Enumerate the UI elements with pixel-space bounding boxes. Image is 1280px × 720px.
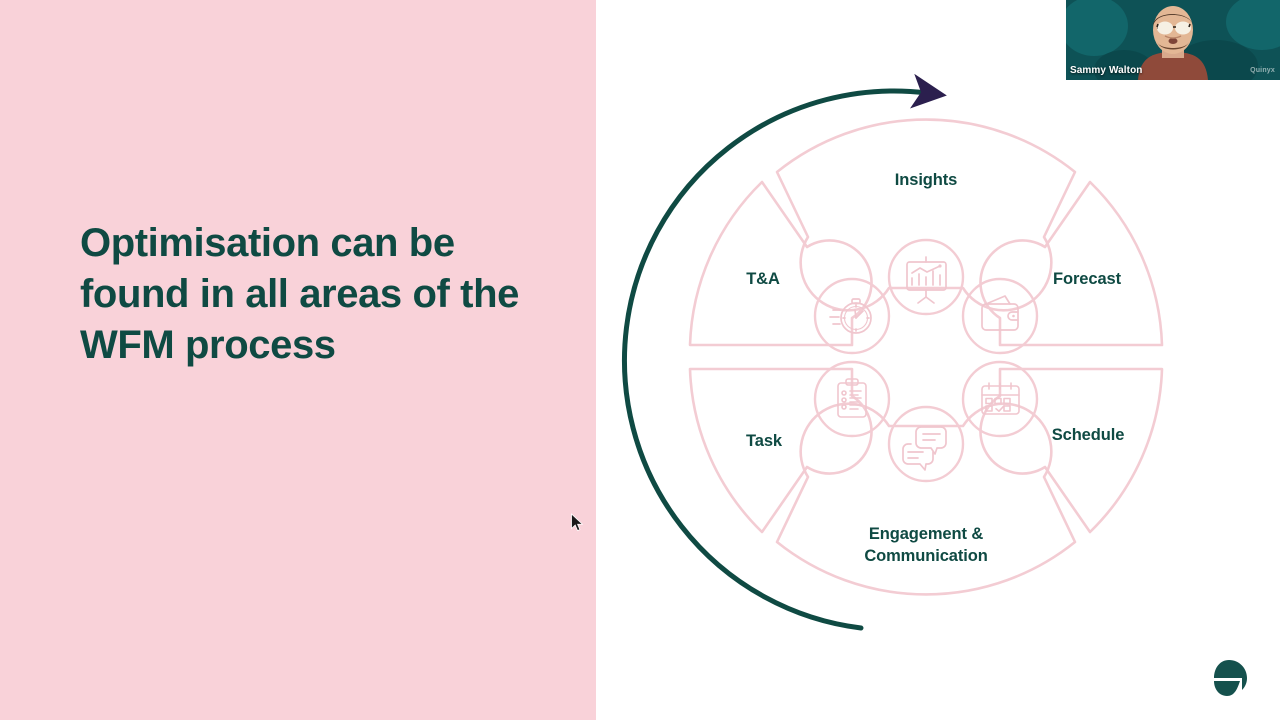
quinyx-logo	[1206, 656, 1252, 702]
wheel-segment-forecast[interactable]	[980, 182, 1162, 345]
wheel-label-ta: T&A	[746, 268, 780, 290]
video-watermark-label: Quinyx	[1250, 67, 1275, 74]
left-pink-panel: Optimisation can be found in all areas o…	[0, 0, 596, 720]
video-participant-tile[interactable]: Sammy Walton Quinyx	[1066, 0, 1280, 80]
wheel-label-task: Task	[746, 430, 782, 452]
wheel-graphic	[596, 0, 1280, 720]
slide-canvas: Optimisation can be found in all areas o…	[0, 0, 1280, 720]
right-white-panel: Insights Forecast Schedule Engagement & …	[596, 0, 1280, 720]
wheel-label-schedule: Schedule	[1052, 424, 1125, 446]
page-title: Optimisation can be found in all areas o…	[80, 218, 550, 371]
participant-name-label: Sammy Walton	[1070, 65, 1143, 76]
wheel-segment-schedule[interactable]	[980, 369, 1162, 532]
wfm-process-wheel: Insights Forecast Schedule Engagement & …	[596, 0, 1280, 720]
speech-bubbles-icon	[889, 407, 963, 481]
presentation-chart-icon	[889, 240, 963, 314]
wheel-label-engagement-communication: Engagement & Communication	[864, 523, 987, 567]
wheel-label-forecast: Forecast	[1053, 268, 1121, 290]
wheel-label-insights: Insights	[895, 169, 957, 191]
